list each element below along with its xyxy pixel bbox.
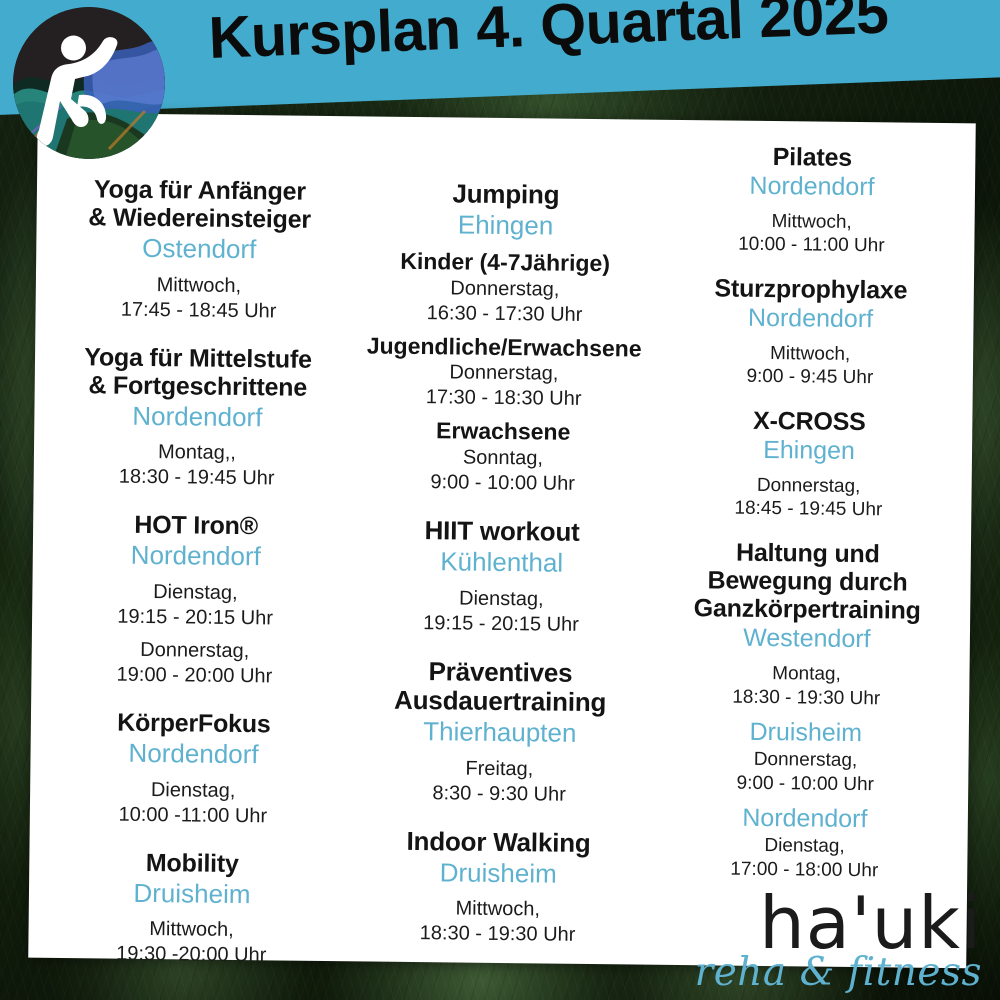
course-location: Thierhaupten xyxy=(351,715,649,749)
slot-time: 19:30 -20:00 Uhr xyxy=(42,941,340,968)
slot-time: 18:30 - 19:45 Uhr xyxy=(48,464,346,491)
brand-tagline: reha & fitness xyxy=(695,953,982,992)
course-subgroup: Erwachsene Sonntag, 9:00 - 10:00 Uhr xyxy=(354,418,653,497)
course-extra-location: Nordendorf Dienstag, 17:00 - 18:00 Uhr xyxy=(655,803,954,883)
course-title-line1: Haltung und xyxy=(659,538,957,569)
slot-day: Donnerstag, xyxy=(46,637,344,664)
course-title-line1: Yoga für Anfänger xyxy=(51,175,349,206)
course-title-line3: Ganzkörpertraining xyxy=(658,594,956,625)
course-title-line1: Yoga für Mittelstufe xyxy=(49,343,347,374)
slot-day: Dienstag, xyxy=(655,834,953,860)
slot-day: Montag,, xyxy=(48,439,346,466)
schedule-column-1: Yoga für Anfänger & Wiedereinsteiger Ost… xyxy=(38,127,353,969)
course-slot: Mittwoch, 18:30 - 19:30 Uhr xyxy=(348,896,647,948)
slot-day: Donnerstag, xyxy=(355,360,653,387)
course-mobility[interactable]: Mobility Druisheim Mittwoch, 19:30 -20:0… xyxy=(42,848,341,969)
course-location: Westendorf xyxy=(658,623,956,656)
course-hiit-workout[interactable]: HIIT workout Kühlenthal Dienstag, 19:15 … xyxy=(352,515,651,637)
course-slot: Dienstag, 19:15 - 20:15 Uhr xyxy=(46,579,345,631)
slot-time: 18:45 - 19:45 Uhr xyxy=(659,497,957,523)
course-title-line1: HIIT workout xyxy=(353,515,651,547)
schedule-column-3: Pilates Nordendorf Mittwoch, 10:00 - 11:… xyxy=(651,134,966,902)
course-location: Ostendorf xyxy=(50,232,348,266)
course-slot: Dienstag, 10:00 -11:00 Uhr xyxy=(44,777,343,829)
course-location: Ehingen xyxy=(356,208,654,242)
course-title-line2: & Fortgeschrittene xyxy=(49,371,347,402)
course-title-line1: HOT Iron® xyxy=(47,510,345,541)
course-x-cross[interactable]: X-CROSS Ehingen Donnerstag, 18:45 - 19:4… xyxy=(659,406,958,523)
course-title-line1: Indoor Walking xyxy=(349,826,647,858)
brand-name: ha'uki xyxy=(695,887,982,959)
slot-day: Mittwoch, xyxy=(349,896,647,923)
slot-day: Donnerstag, xyxy=(656,748,954,774)
course-title-line1: Präventives xyxy=(351,656,649,688)
slot-time: 10:00 -11:00 Uhr xyxy=(44,802,342,829)
course-location: Nordendorf xyxy=(663,171,961,204)
course-location: Druisheim xyxy=(43,877,341,911)
course-title-line2: & Wiedereinsteiger xyxy=(50,203,348,234)
course-title-line1: X-CROSS xyxy=(660,406,958,437)
slot-time: 19:15 - 20:15 Uhr xyxy=(46,604,344,631)
poster-canvas: Kursplan 4. Quartal 2025 xyxy=(0,0,1000,1000)
hauki-logo-icon xyxy=(13,7,165,159)
course-location: Kühlenthal xyxy=(353,545,651,579)
slot-day: Freitag, xyxy=(350,755,648,782)
slot-day: Mittwoch, xyxy=(50,272,348,299)
slot-day: Dienstag, xyxy=(352,585,650,612)
subgroup-label: Erwachsene xyxy=(354,418,652,447)
course-title-line1: KörperFokus xyxy=(45,708,343,739)
schedule-card: Yoga für Anfänger & Wiedereinsteiger Ost… xyxy=(28,113,976,969)
course-title-line1: Sturzprophylaxe xyxy=(662,274,960,305)
slot-time: 18:30 - 19:30 Uhr xyxy=(657,685,955,711)
course-title-line1: Mobility xyxy=(43,848,341,879)
schedule-column-2: Jumping Ehingen Kinder (4-7Jährige) Donn… xyxy=(344,130,659,948)
subgroup-label: Jugendliche/Erwachsene xyxy=(355,333,653,362)
course-extra-location: Druisheim Donnerstag, 9:00 - 10:00 Uhr xyxy=(656,717,955,797)
course-pilates[interactable]: Pilates Nordendorf Mittwoch, 10:00 - 11:… xyxy=(662,142,961,259)
slot-day: Dienstag, xyxy=(44,777,342,804)
course-praeventives-ausdauertraining[interactable]: Präventives Ausdauertraining Thierhaupte… xyxy=(350,656,650,807)
course-koerperfokus[interactable]: KörperFokus Nordendorf Dienstag, 10:00 -… xyxy=(44,708,343,829)
slot-time: 9:00 - 10:00 Uhr xyxy=(354,469,652,496)
course-location: Druisheim xyxy=(657,717,955,750)
logo-artwork xyxy=(13,7,165,159)
course-slot: Mittwoch, 17:45 - 18:45 Uhr xyxy=(49,272,348,324)
course-slot: Dienstag, 19:15 - 20:15 Uhr xyxy=(352,585,651,637)
course-location: Nordendorf xyxy=(47,539,345,573)
course-indoor-walking[interactable]: Indoor Walking Druisheim Mittwoch, 18:30… xyxy=(348,826,647,948)
course-yoga-mittelstufe[interactable]: Yoga für Mittelstufe & Fortgeschrittene … xyxy=(48,343,348,492)
slot-day: Dienstag, xyxy=(46,579,344,606)
course-title-line1: Pilates xyxy=(663,142,961,173)
subgroup-label: Kinder (4-7Jährige) xyxy=(356,248,654,277)
course-location: Nordendorf xyxy=(661,303,959,336)
slot-day: Mittwoch, xyxy=(661,341,959,367)
schedule-columns: Yoga für Anfänger & Wiedereinsteiger Ost… xyxy=(28,113,976,969)
slot-day: Donnerstag, xyxy=(356,275,654,302)
course-jumping[interactable]: Jumping Ehingen Kinder (4-7Jährige) Donn… xyxy=(354,178,656,496)
course-haltung-und-bewegung[interactable]: Haltung und Bewegung durch Ganzkörpertra… xyxy=(655,538,957,884)
slot-day: Sonntag, xyxy=(354,444,652,471)
course-hot-iron[interactable]: HOT Iron® Nordendorf Dienstag, 19:15 - 2… xyxy=(45,510,345,689)
course-title-line1: Jumping xyxy=(357,178,655,210)
course-location: Nordendorf xyxy=(48,400,346,434)
course-slot: Donnerstag, 18:45 - 19:45 Uhr xyxy=(659,473,958,523)
slot-time: 19:00 - 20:00 Uhr xyxy=(45,662,343,689)
course-subgroup: Jugendliche/Erwachsene Donnerstag, 17:30… xyxy=(354,333,653,412)
brand-wordmark: ha'uki reha & fitness xyxy=(695,887,982,992)
course-sturzprophylaxe[interactable]: Sturzprophylaxe Nordendorf Mittwoch, 9:0… xyxy=(661,274,960,391)
slot-day: Montag, xyxy=(657,662,955,688)
slot-time: 16:30 - 17:30 Uhr xyxy=(355,300,653,327)
course-location: Druisheim xyxy=(349,856,647,890)
slot-time: 17:30 - 18:30 Uhr xyxy=(354,385,652,412)
course-location: Ehingen xyxy=(660,435,958,468)
slot-time: 17:00 - 18:00 Uhr xyxy=(655,858,953,884)
course-slot: Mittwoch, 10:00 - 11:00 Uhr xyxy=(662,209,961,259)
slot-time: 10:00 - 11:00 Uhr xyxy=(662,233,960,259)
course-slot: Freitag, 8:30 - 9:30 Uhr xyxy=(350,755,649,807)
slot-day: Mittwoch, xyxy=(663,209,961,235)
slot-time: 19:15 - 20:15 Uhr xyxy=(352,610,650,637)
course-slot: Montag,, 18:30 - 19:45 Uhr xyxy=(48,439,347,491)
course-yoga-anfaenger[interactable]: Yoga für Anfänger & Wiedereinsteiger Ost… xyxy=(49,175,349,324)
course-title-line2: Ausdauertraining xyxy=(351,685,649,717)
page-title: Kursplan 4. Quartal 2025 xyxy=(208,0,890,72)
course-subgroup: Kinder (4-7Jährige) Donnerstag, 16:30 - … xyxy=(355,248,654,327)
course-location: Nordendorf xyxy=(656,803,954,836)
course-title-line2: Bewegung durch xyxy=(658,566,956,597)
slot-time: 8:30 - 9:30 Uhr xyxy=(350,780,648,807)
slot-time: 9:00 - 10:00 Uhr xyxy=(656,771,954,797)
course-location: Nordendorf xyxy=(44,737,342,771)
course-slot: Montag, 18:30 - 19:30 Uhr xyxy=(657,662,956,712)
slot-day: Mittwoch, xyxy=(42,916,340,943)
slot-time: 17:45 - 18:45 Uhr xyxy=(49,297,347,324)
course-slot: Mittwoch, 9:00 - 9:45 Uhr xyxy=(661,341,960,391)
slot-time: 9:00 - 9:45 Uhr xyxy=(661,365,959,391)
course-slot: Donnerstag, 19:00 - 20:00 Uhr xyxy=(45,637,344,689)
slot-day: Donnerstag, xyxy=(660,473,958,499)
course-slot: Mittwoch, 19:30 -20:00 Uhr xyxy=(42,916,341,968)
slot-time: 18:30 - 19:30 Uhr xyxy=(348,921,646,948)
